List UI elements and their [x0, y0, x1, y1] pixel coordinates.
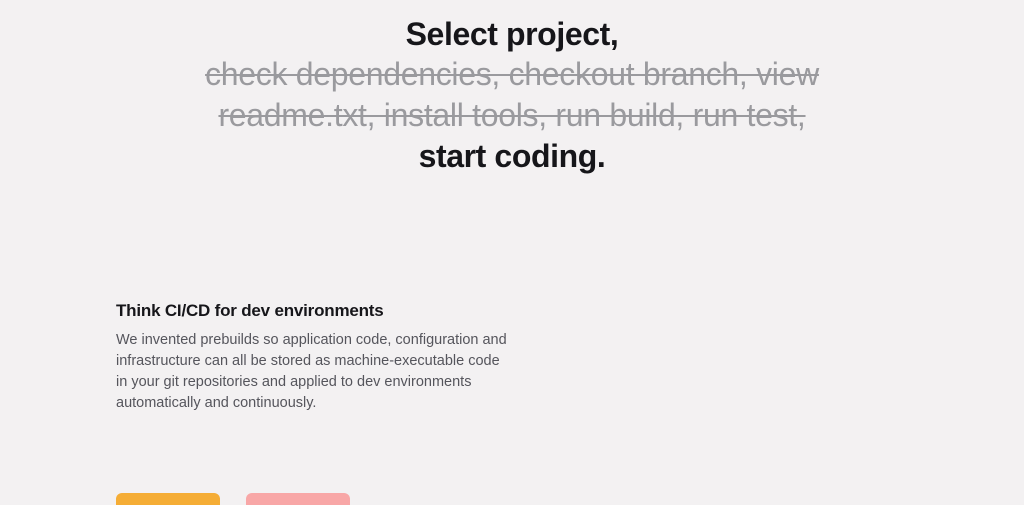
cta-row — [116, 493, 350, 505]
hero-heading: Select project, check dependencies, chec… — [0, 14, 1024, 176]
page-root: Select project, check dependencies, chec… — [0, 0, 1024, 505]
hero-line-struck-tasks: check dependencies, checkout branch, vie… — [172, 54, 852, 136]
primary-cta-button[interactable] — [116, 493, 220, 505]
copy-title: Think CI/CD for dev environments — [116, 300, 516, 322]
hero-line-start-coding: start coding. — [0, 136, 1024, 176]
copy-body: We invented prebuilds so application cod… — [116, 330, 511, 414]
copy-block: Think CI/CD for dev environments We inve… — [116, 300, 516, 414]
hero-line-select-project: Select project, — [0, 14, 1024, 54]
secondary-cta-button[interactable] — [246, 493, 350, 505]
content-row: Think CI/CD for dev environments We inve… — [0, 258, 1024, 505]
